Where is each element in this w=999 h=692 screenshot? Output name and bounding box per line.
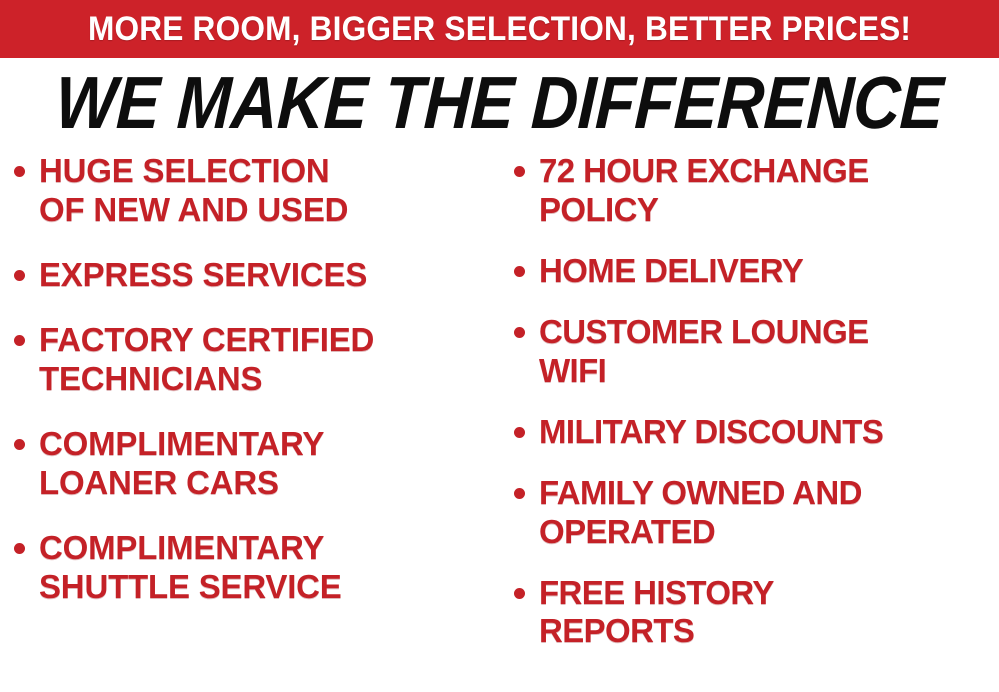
list-item: COMPLIMENTARYSHUTTLE SERVICE [14,529,496,607]
list-item-label: HUGE SELECTIONOF NEW AND USED [39,152,348,230]
list-item-line-1: EXPRESS SERVICES [39,256,367,293]
bullet-dot-icon [14,270,25,281]
top-promo-banner-text: MORE ROOM, BIGGER SELECTION, BETTER PRIC… [88,12,911,46]
list-item-line-2: TECHNICIANS [39,360,262,397]
list-item-line-1: CUSTOMER LOUNGE [539,313,869,350]
list-item-label: MILITARY DISCOUNTS [539,413,883,452]
features-column-left: HUGE SELECTIONOF NEW AND USED EXPRESS SE… [0,152,500,632]
features-column-right: 72 HOUR EXCHANGEPOLICY HOME DELIVERY CUS… [500,152,999,673]
list-item-label: FACTORY CERTIFIEDTECHNICIANS [39,321,374,399]
list-item: HOME DELIVERY [514,252,997,291]
list-item-line-2: SHUTTLE SERVICE [39,568,342,605]
list-item-label: 72 HOUR EXCHANGEPOLICY [539,152,869,230]
list-item-label: COMPLIMENTARYLOANER CARS [39,425,324,503]
list-item-line-2: REPORTS [539,612,694,649]
list-item-line-1: 72 HOUR EXCHANGE [539,152,869,189]
list-item-line-2: LOANER CARS [39,464,279,501]
bullet-dot-icon [514,327,525,338]
list-item-line-1: FREE HISTORY [539,574,774,611]
bullet-dot-icon [514,427,525,438]
list-item-label: FAMILY OWNED ANDOPERATED [539,474,862,552]
list-item-line-1: HOME DELIVERY [539,252,803,289]
bullet-dot-icon [14,439,25,450]
list-item-label: FREE HISTORYREPORTS [539,574,774,652]
list-item-label: EXPRESS SERVICES [39,256,367,295]
list-item-label: COMPLIMENTARYSHUTTLE SERVICE [39,529,342,607]
features-columns: HUGE SELECTIONOF NEW AND USED EXPRESS SE… [0,152,999,692]
bullet-dot-icon [14,335,25,346]
bullet-dot-icon [514,166,525,177]
list-item-line-1: FAMILY OWNED AND [539,474,862,511]
list-item-line-2: OPERATED [539,513,715,550]
bullet-dot-icon [514,588,525,599]
page-title: WE MAKE THE DIFFERENCE [54,66,945,140]
list-item-line-2: OF NEW AND USED [39,191,348,228]
bullet-dot-icon [514,266,525,277]
list-item-line-1: HUGE SELECTION [39,152,330,189]
list-item-line-2: POLICY [539,191,658,228]
list-item: HUGE SELECTIONOF NEW AND USED [14,152,496,230]
promo-banner-page: { "banner": { "text": "MORE ROOM, BIGGER… [0,0,999,692]
list-item-line-2: WIFI [539,352,606,389]
bullet-dot-icon [14,543,25,554]
bullet-dot-icon [14,166,25,177]
list-item: COMPLIMENTARYLOANER CARS [14,425,496,503]
list-item: FACTORY CERTIFIEDTECHNICIANS [14,321,496,399]
list-item-label: CUSTOMER LOUNGEWIFI [539,313,869,391]
list-item-line-1: COMPLIMENTARY [39,529,324,566]
list-item-line-1: MILITARY DISCOUNTS [539,413,883,450]
list-item-line-1: COMPLIMENTARY [39,425,324,462]
bullet-dot-icon [514,488,525,499]
list-item-line-1: FACTORY CERTIFIED [39,321,374,358]
list-item: 72 HOUR EXCHANGEPOLICY [514,152,997,230]
top-promo-banner: MORE ROOM, BIGGER SELECTION, BETTER PRIC… [0,0,999,58]
list-item: EXPRESS SERVICES [14,256,496,295]
list-item-label: HOME DELIVERY [539,252,803,291]
list-item: FAMILY OWNED ANDOPERATED [514,474,997,552]
list-item: FREE HISTORYREPORTS [514,574,997,652]
list-item: CUSTOMER LOUNGEWIFI [514,313,997,391]
headline-container: WE MAKE THE DIFFERENCE [0,62,999,144]
list-item: MILITARY DISCOUNTS [514,413,997,452]
